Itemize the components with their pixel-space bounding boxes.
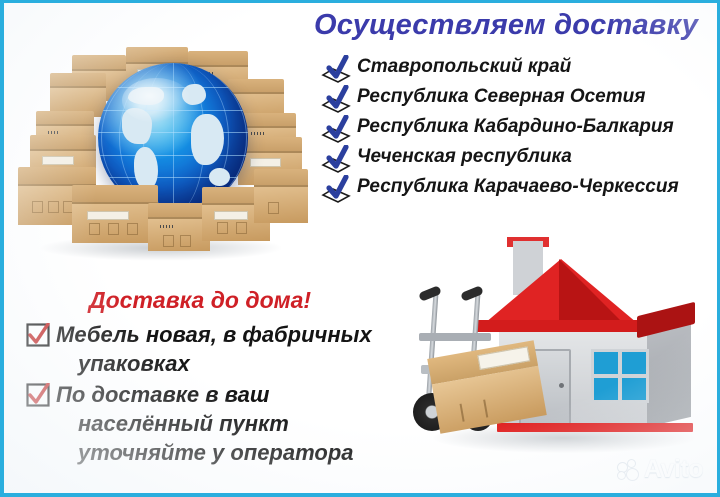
sub-headline: Доставка до дома! bbox=[89, 287, 311, 314]
house-roof-side bbox=[559, 259, 623, 323]
cardboard-box bbox=[72, 185, 158, 243]
region-label: Чеченская республика bbox=[357, 146, 572, 168]
delivery-advertisement-banner: Осуществляем доставку Ставропольский кра… bbox=[0, 0, 720, 497]
region-label: Ставропольский край bbox=[357, 56, 571, 78]
list-item: По доставке в ваш населённый пункт уточн… bbox=[26, 380, 386, 467]
avito-logo-icon bbox=[618, 460, 640, 480]
house-foundation bbox=[497, 423, 693, 432]
region-label: Республика Северная Осетия bbox=[357, 86, 645, 108]
feature-line: населённый пункт bbox=[78, 409, 386, 438]
region-label: Республика Кабардино-Балкария bbox=[357, 116, 674, 138]
cardboard-box bbox=[148, 203, 210, 251]
house-side-wall bbox=[647, 319, 691, 427]
blue-check-tick-icon bbox=[319, 55, 353, 85]
house-with-hand-truck-illustration bbox=[399, 237, 719, 489]
region-label: Республика Карачаево-Черкессия bbox=[357, 176, 679, 198]
feature-line: Мебель новая, в фабричных bbox=[56, 322, 372, 347]
house-window bbox=[591, 349, 649, 403]
feature-line: упаковках bbox=[78, 349, 386, 378]
blue-check-tick-icon bbox=[319, 85, 353, 115]
house-roof-eave bbox=[475, 320, 651, 332]
cardboard-box bbox=[254, 169, 308, 223]
red-checkbox-icon bbox=[26, 383, 50, 407]
list-item: Мебель новая, в фабричных упаковках bbox=[26, 320, 386, 378]
page-title: Осуществляем доставку bbox=[314, 9, 698, 42]
avito-watermark: Avito bbox=[618, 455, 703, 484]
red-checkbox-icon bbox=[26, 323, 50, 347]
blue-check-tick-icon bbox=[319, 175, 353, 205]
avito-watermark-text: Avito bbox=[644, 455, 703, 484]
blue-check-tick-icon bbox=[319, 115, 353, 145]
delivery-conditions-list: Мебель новая, в фабричных упаковках По д… bbox=[26, 320, 386, 469]
feature-line: По доставке в ваш bbox=[56, 382, 269, 407]
blue-check-tick-icon bbox=[319, 145, 353, 175]
feature-line: уточняйте у оператора bbox=[78, 438, 386, 467]
door-knob-icon bbox=[559, 383, 564, 388]
globe-with-boxes-illustration bbox=[12, 27, 308, 273]
